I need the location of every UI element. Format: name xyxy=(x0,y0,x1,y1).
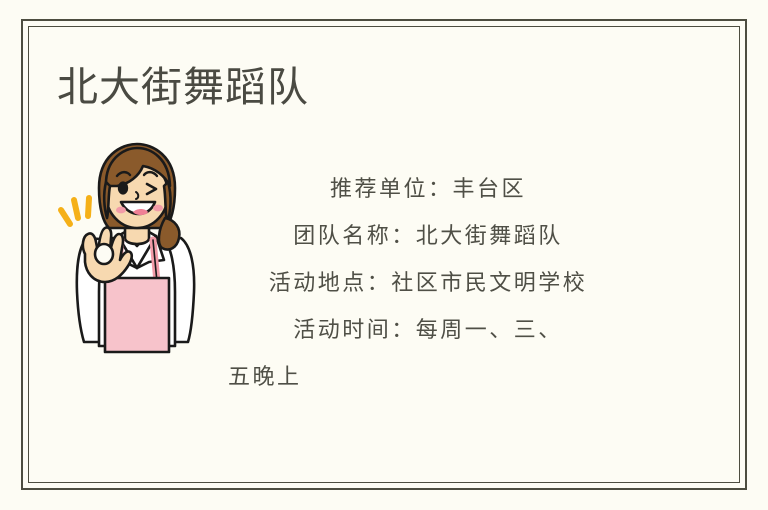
page-title: 北大街舞蹈队 xyxy=(57,62,309,112)
info-line-team-name: 团队名称：北大街舞蹈队 xyxy=(228,212,628,259)
info-line-time-continued: 五晚上 xyxy=(228,353,628,400)
smiling-woman-ok-gesture-illustration xyxy=(55,142,217,354)
info-line-recommend-unit: 推荐单位：丰台区 xyxy=(228,165,628,212)
poster-card: 北大街舞蹈队 xyxy=(0,0,768,510)
info-line-time: 活动时间：每周一、三、 xyxy=(228,306,628,353)
info-text-block: 推荐单位：丰台区 团队名称：北大街舞蹈队 活动地点：社区市民文明学校 活动时间：… xyxy=(228,165,628,400)
info-line-location: 活动地点：社区市民文明学校 xyxy=(228,259,628,306)
